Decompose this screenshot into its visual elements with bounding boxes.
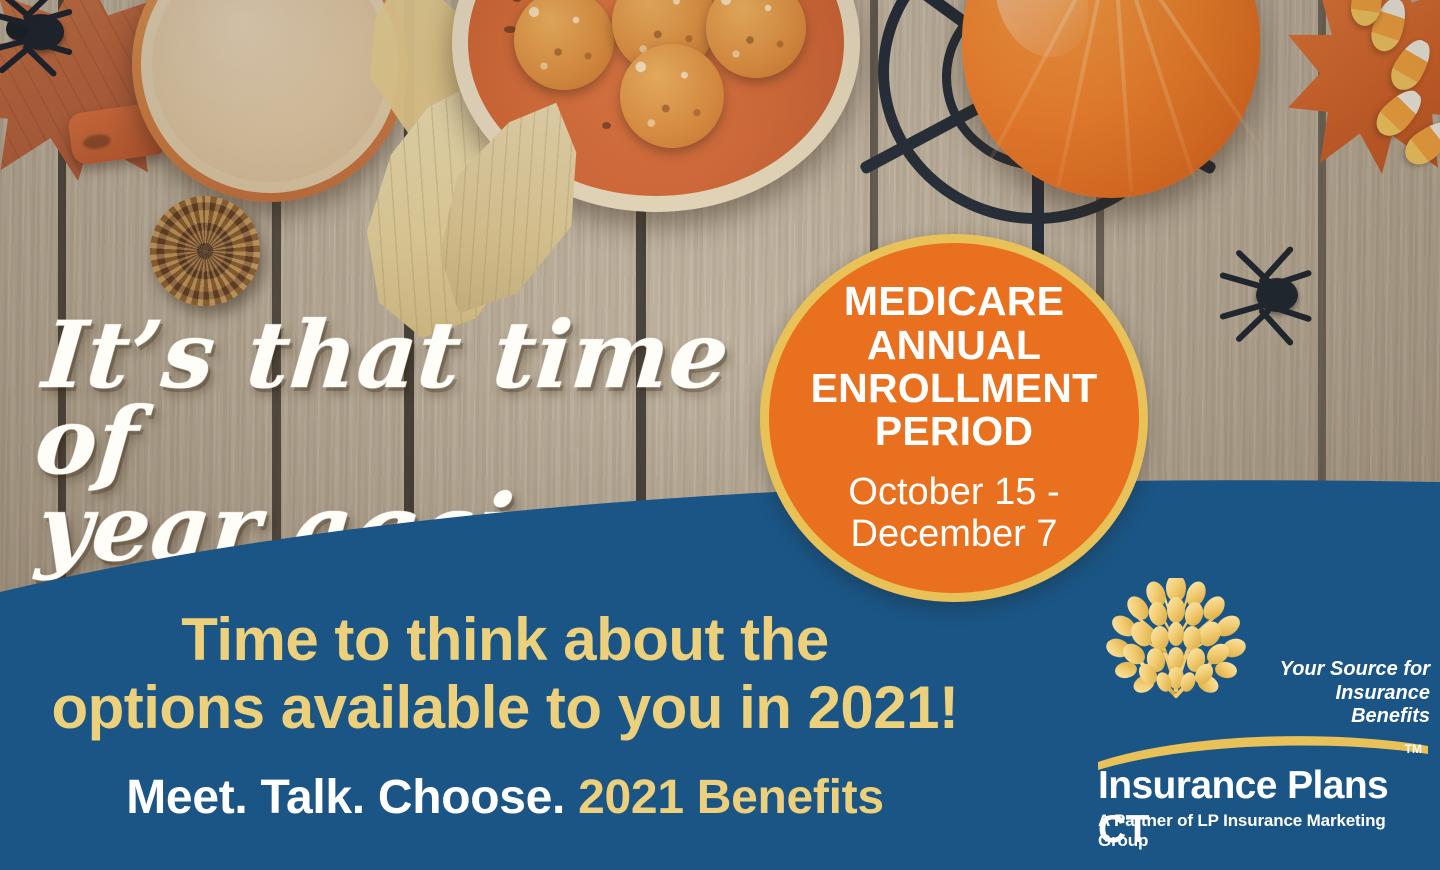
candy-corn-icon xyxy=(1369,83,1428,143)
latte-mug-icon xyxy=(132,0,408,202)
trademark-symbol: TM xyxy=(1405,742,1422,756)
subline-gold-part: 2021 Benefits xyxy=(578,771,884,824)
spider-icon xyxy=(0,0,106,94)
aep-badge-title-line4: PERIOD xyxy=(811,410,1098,453)
aep-badge: MEDICARE ANNUAL ENROLLMENT PERIOD Octobe… xyxy=(760,234,1148,602)
aep-badge-title-line2: ANNUAL xyxy=(811,324,1098,367)
leaf-dish-icon xyxy=(1288,0,1440,174)
mug-handle xyxy=(67,102,165,166)
candy-corn-icon xyxy=(1366,0,1411,55)
pumpkin-icon xyxy=(962,0,1260,198)
aep-badge-title-line1: MEDICARE xyxy=(811,280,1098,323)
aep-badge-dates-line1: October 15 - xyxy=(848,471,1059,514)
promotional-banner: It’s that time of year again… MEDICARE A… xyxy=(0,0,1440,870)
candy-corn-icon xyxy=(1385,34,1438,96)
aep-badge-title-line3: ENROLLMENT xyxy=(811,367,1098,410)
candy-corn-icon xyxy=(1398,115,1440,172)
script-headline-line1: It’s that time of xyxy=(31,301,733,495)
spiderweb-placemat-icon xyxy=(838,0,1258,280)
company-logo[interactable]: Your Source for Insurance Benefits TM In… xyxy=(1098,578,1428,840)
tree-logo-icon xyxy=(1100,578,1252,750)
aep-badge-title: MEDICARE ANNUAL ENROLLMENT PERIOD xyxy=(811,280,1098,454)
aep-badge-dates-line2: December 7 xyxy=(848,513,1059,556)
subline: Meet. Talk. Choose. 2021 Benefits xyxy=(0,770,1010,825)
logo-tagline: Your Source for Insurance Benefits xyxy=(1254,658,1430,729)
yellow-leaf-icon xyxy=(327,0,536,183)
logo-partner-line: A Partner of LP Insurance Marketing Grou… xyxy=(1098,811,1428,851)
main-headline-line2: options available to you in 2021! xyxy=(0,674,1010,742)
logo-tagline-line1: Your Source for xyxy=(1254,658,1430,682)
main-headline-line1: Time to think about the xyxy=(0,606,1010,674)
macaron-bowl-icon xyxy=(452,0,860,212)
subline-white-part: Meet. Talk. Choose. xyxy=(126,771,578,824)
logo-tagline-line2: Insurance Benefits xyxy=(1254,682,1430,729)
aep-badge-dates: October 15 - December 7 xyxy=(848,471,1059,556)
main-headline: Time to think about the options availabl… xyxy=(0,606,1010,742)
maple-leaf-icon xyxy=(0,0,208,181)
candy-corn-icon xyxy=(1348,0,1385,28)
spider-icon xyxy=(1212,244,1340,352)
pine-cone-icon xyxy=(150,196,260,306)
